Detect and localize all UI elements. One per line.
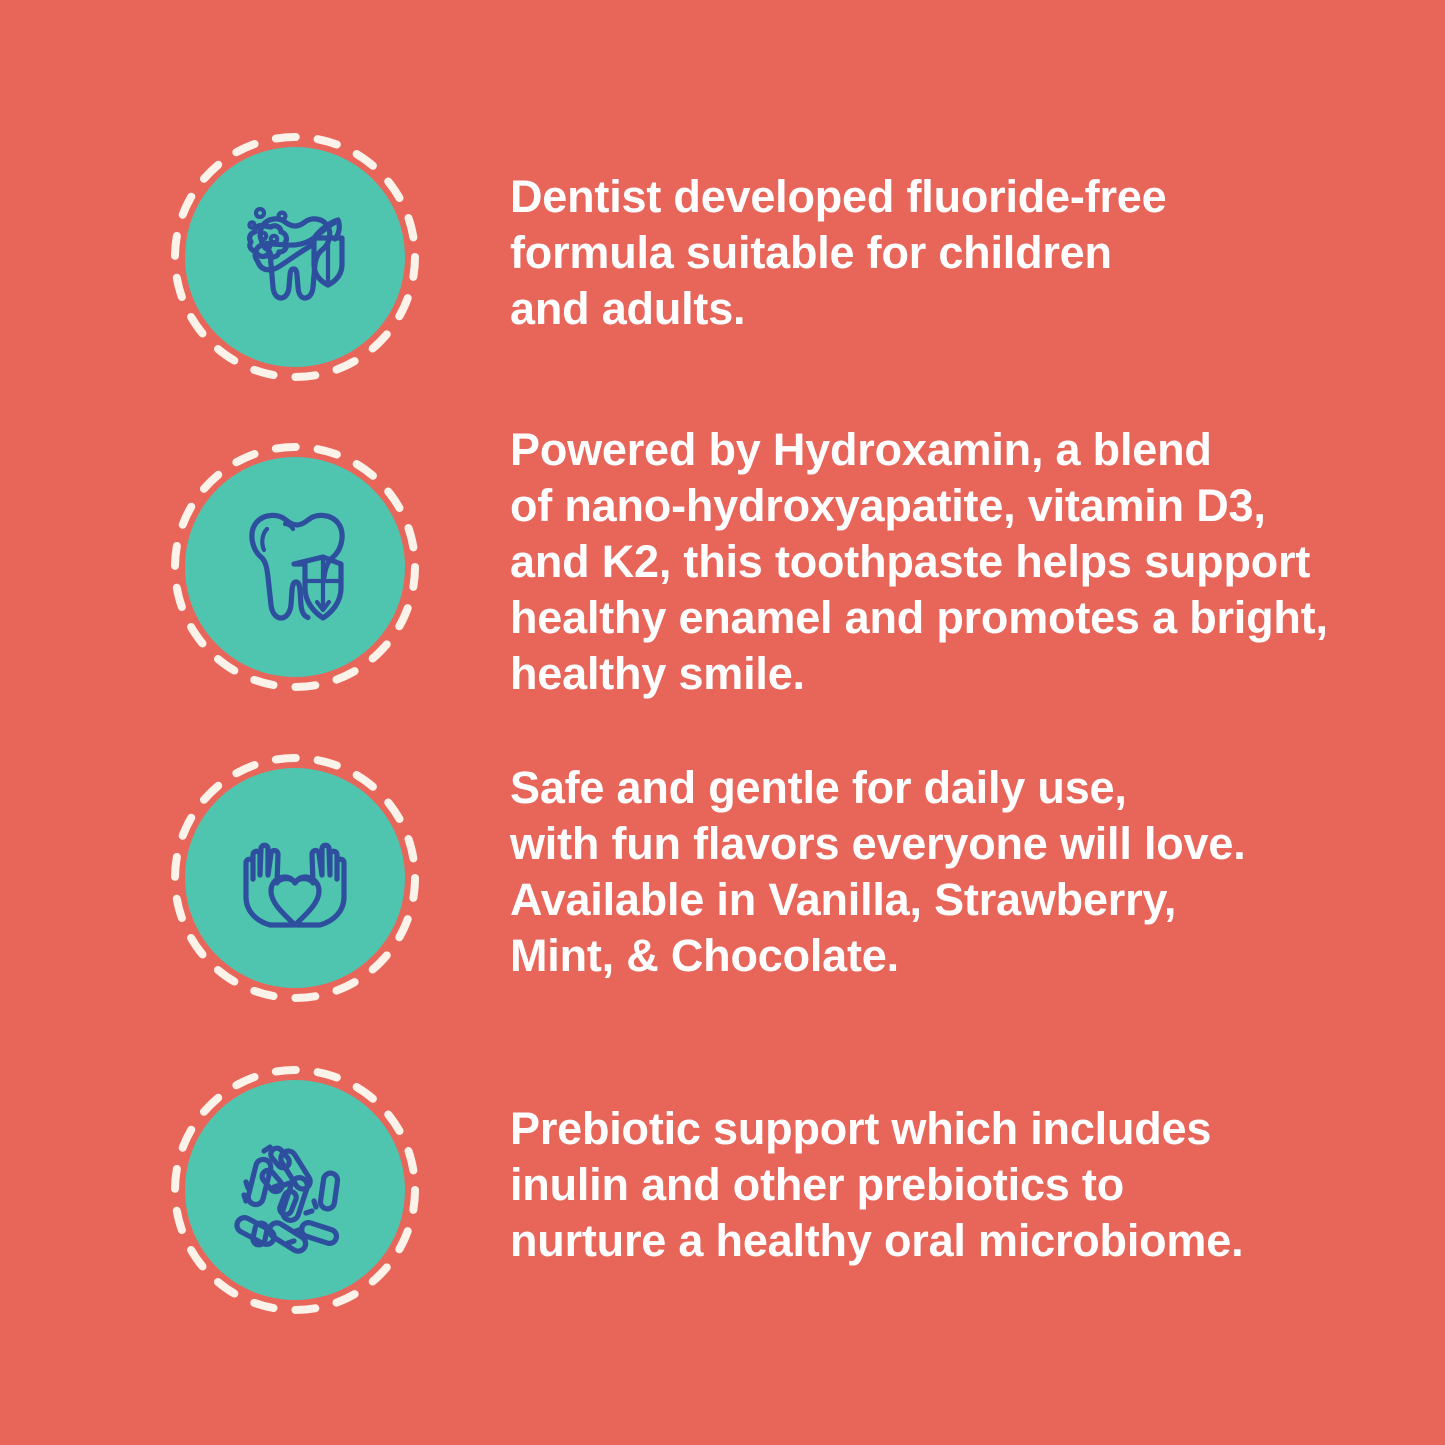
- icon-disc: [185, 147, 405, 367]
- feature-list: Dentist developed fluoride-free formula …: [0, 0, 1445, 1445]
- feature-text: Dentist developed fluoride-free formula …: [440, 112, 1430, 337]
- feature-row: Dentist developed fluoride-free formula …: [150, 112, 1430, 402]
- tooth-shield-protection-icon: [230, 502, 360, 632]
- tooth-brushing-foam-icon: [230, 192, 360, 322]
- feature-row: Prebiotic support which includes inulin …: [150, 1045, 1430, 1335]
- feature-icon-badge: [150, 1045, 440, 1335]
- feature-icon-badge: [150, 733, 440, 1023]
- icon-disc: [185, 1080, 405, 1300]
- feature-text: Prebiotic support which includes inulin …: [440, 1045, 1430, 1269]
- icon-disc: [185, 768, 405, 988]
- feature-text: Safe and gentle for daily use, with fun …: [440, 733, 1430, 984]
- icon-disc: [185, 457, 405, 677]
- feature-row: Powered by Hydroxamin, a blend of nano-h…: [150, 422, 1430, 712]
- feature-text: Powered by Hydroxamin, a blend of nano-h…: [440, 422, 1430, 702]
- feature-icon-badge: [150, 112, 440, 402]
- hands-heart-care-icon: [230, 813, 360, 943]
- feature-icon-badge: [150, 422, 440, 712]
- feature-row: Safe and gentle for daily use, with fun …: [150, 733, 1430, 1023]
- bacteria-microbiome-icon: [230, 1125, 360, 1255]
